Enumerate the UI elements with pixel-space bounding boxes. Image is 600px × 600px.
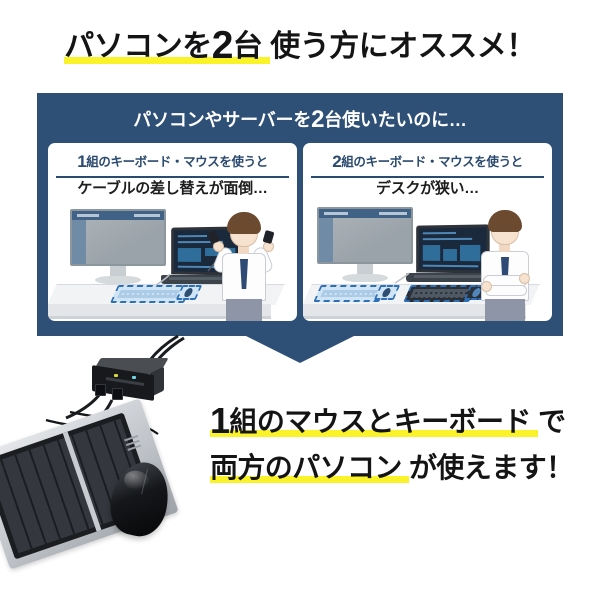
page-headline: パソコンを2台 使う方にオススメ！ [0, 26, 600, 67]
kvm-port-one [95, 384, 106, 396]
problem-panel-title: パソコンやサーバーを2台使いたいのに… [37, 107, 563, 133]
bottom-message-line-two: 両方のパソコン が使えます！ [210, 445, 600, 491]
headline-part-a: パソコンを [64, 30, 212, 63]
person-two-hand-left [481, 281, 492, 292]
card-one-number: 1 [77, 152, 86, 171]
scene-two-illustration [303, 201, 552, 321]
person-two-hand-right [519, 273, 530, 284]
problem-title-part-a: パソコンやサーバーを [133, 110, 311, 130]
bottom-line-two-tail: が使えます！ [409, 452, 573, 483]
card-two-heading-text: 組のキーボード・マウスを使うと [341, 155, 523, 169]
card-two-number: 2 [332, 152, 341, 171]
advertisement-page: パソコンを2台 使う方にオススメ！ パソコンやサーバーを2台使いたいのに… 1組… [0, 0, 600, 600]
headline-part-c: 使う方にオススメ！ [270, 30, 536, 63]
problem-title-number: 2 [311, 106, 324, 133]
bottom-line-two-highlight: 両方のパソコン [210, 452, 402, 483]
kvm-port-two [112, 388, 123, 400]
problem-card-two-heading: 2組のキーボード・マウスを使うと [311, 151, 544, 178]
problem-title-part-b: 台使いたいのに… [324, 110, 466, 130]
problem-card-one: 1組のキーボード・マウスを使うと ケーブルの差し替えが面倒… [48, 143, 297, 321]
problem-card-two: 2組のキーボード・マウスを使うと デスクが狭い… [303, 143, 552, 321]
scene-one-illustration [48, 201, 297, 321]
bottom-line-one-tail: で [538, 406, 565, 437]
headline-part-b: 台 [233, 30, 263, 63]
mouse-highlight-sheen [122, 468, 152, 493]
card-one-heading-text: 組のキーボード・マウスを使うと [86, 155, 268, 169]
kvm-led-indicator-two [132, 376, 136, 379]
problem-panel: パソコンやサーバーを2台使いたいのに… 1組のキーボード・マウスを使うと ケーブ… [37, 93, 563, 336]
kvm-led-indicator-one [114, 374, 118, 377]
bottom-message-line-one: 1組のマウスとキーボード で [210, 398, 600, 445]
keyboard-mouse-photo [0, 424, 186, 560]
kvm-switch-photo [92, 358, 170, 406]
problem-card-one-subtitle: ケーブルの差し替えが面倒… [48, 177, 297, 198]
headline-number: 2 [212, 24, 233, 67]
panel-down-arrow [244, 335, 356, 363]
problem-card-two-subtitle: デスクが狭い… [303, 177, 552, 198]
bottom-line-one-highlight: 組のマウスとキーボード [229, 406, 530, 437]
bottom-message: 1組のマウスとキーボード で 両方のパソコン が使えます！ [210, 398, 600, 491]
person-two-trousers [485, 299, 525, 321]
person-one-trousers [226, 299, 262, 321]
problem-card-one-heading: 1組のキーボード・マウスを使うと [56, 151, 289, 178]
